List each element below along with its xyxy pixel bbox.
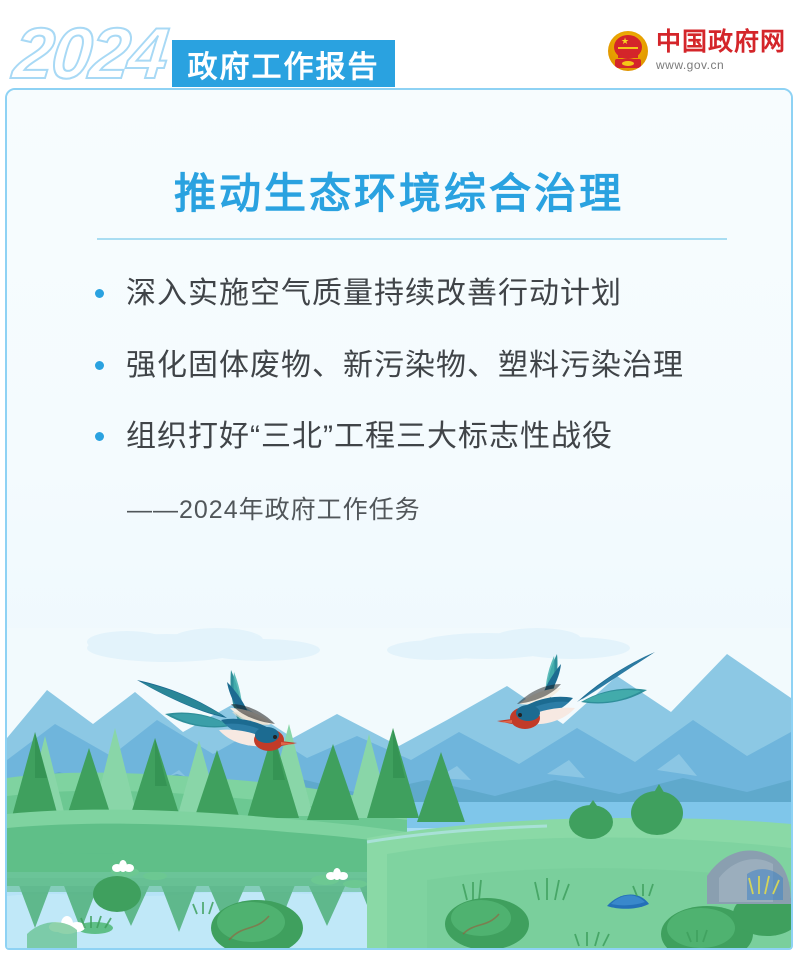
source-attribution: ——2024年政府工作任务 — [127, 490, 755, 526]
swallow-bird-icon — [497, 638, 657, 748]
bullet-dot-icon — [95, 289, 104, 298]
poster-root: 2024 政府工作报告 中国政府网 www.gov.cn 推动生态环境综合治理 — [0, 0, 800, 955]
bullet-item-label: 强化固体废物、新污染物、塑料污染治理 — [126, 347, 684, 385]
gov-site-url: www.gov.cn — [656, 59, 786, 71]
bullet-item-label: 深入实施空气质量持续改善行动计划 — [126, 275, 622, 313]
report-title-badge: 政府工作报告 — [172, 40, 395, 87]
swallow-bird-icon — [135, 642, 300, 757]
gov-logo-text: 中国政府网 www.gov.cn — [656, 30, 786, 71]
content-panel: 推动生态环境综合治理 深入实施空气质量持续改善行动计划 强化固体废物、新污染物、… — [5, 88, 793, 950]
bullet-dot-icon — [95, 361, 104, 370]
gov-site-name: 中国政府网 — [656, 30, 786, 55]
list-item: 组织打好“三北”工程三大标志性战役 — [95, 418, 755, 456]
list-item: 深入实施空气质量持续改善行动计划 — [95, 275, 755, 313]
year-outline-text: 2024 — [10, 18, 170, 90]
gov-logo[interactable]: 中国政府网 www.gov.cn — [608, 30, 786, 71]
page-header: 2024 政府工作报告 中国政府网 www.gov.cn — [0, 0, 800, 92]
china-national-emblem-icon — [608, 31, 648, 71]
page-title: 推动生态环境综合治理 — [7, 160, 791, 221]
title-divider — [97, 238, 727, 240]
landscape-illustration — [7, 628, 791, 948]
list-item: 强化固体废物、新污染物、塑料污染治理 — [95, 347, 755, 385]
bullet-dot-icon — [95, 432, 104, 441]
bullet-list: 深入实施空气质量持续改善行动计划 强化固体废物、新污染物、塑料污染治理 组织打好… — [95, 275, 755, 526]
bullet-item-label: 组织打好“三北”工程三大标志性战役 — [126, 418, 613, 456]
